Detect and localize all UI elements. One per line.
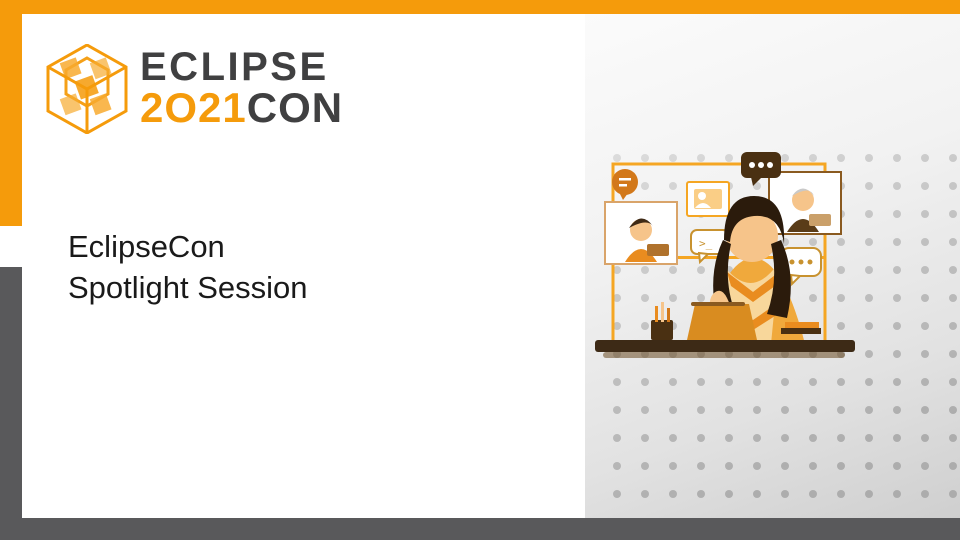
left-gray-bar xyxy=(0,267,22,540)
logo-year-con: 2O21CON xyxy=(140,86,343,140)
left-orange-bar xyxy=(0,14,22,226)
video-conference-illustration: >_ xyxy=(595,144,855,384)
top-accent-bar xyxy=(0,0,960,14)
logo-eclipse-text: ECLIPSE xyxy=(140,46,329,88)
eclipse-hex-cube-icon xyxy=(46,44,128,134)
logo-con-text: CON xyxy=(247,84,343,131)
svg-text:>_: >_ xyxy=(699,237,713,250)
slide-title: EclipseCon Spotlight Session xyxy=(68,226,548,308)
eclipsecon-logo: ECLIPSE 2O21CON xyxy=(46,44,356,134)
logo-year-text: 2O21 xyxy=(140,84,247,131)
slide: ECLIPSE 2O21CON EclipseCon Spotlight Ses… xyxy=(0,0,960,540)
image-panel: >_ xyxy=(585,14,960,518)
bottom-gray-bar xyxy=(0,518,960,540)
logo-wordmark: ECLIPSE 2O21CON xyxy=(140,46,356,132)
